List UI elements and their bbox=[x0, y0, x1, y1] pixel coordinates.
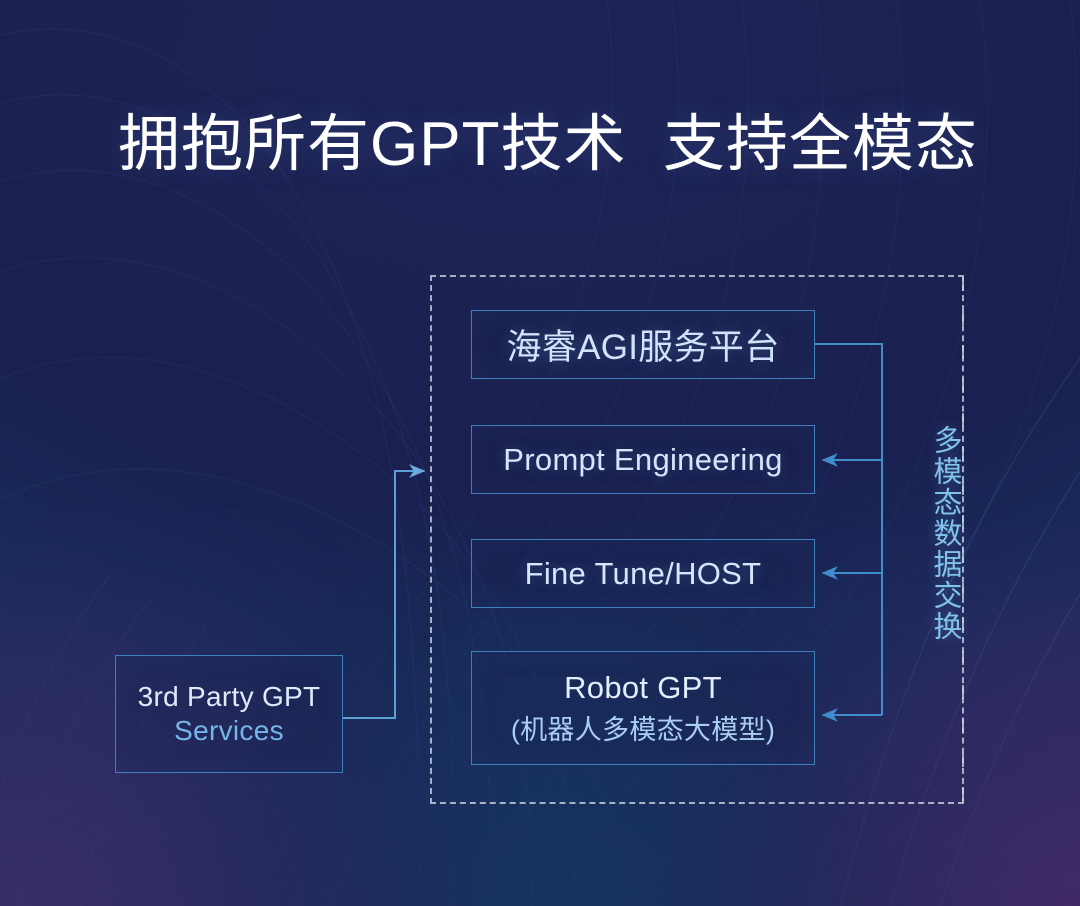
node-label-line1: 3rd Party GPT bbox=[138, 681, 321, 713]
node-label-line1: Prompt Engineering bbox=[503, 442, 782, 478]
side-label-multimodal-data-exchange: 多模态数据交换 bbox=[911, 425, 959, 642]
node-robot-gpt[interactable]: Robot GPT (机器人多模态大模型) bbox=[471, 651, 815, 765]
node-agi-platform[interactable]: 海睿AGI服务平台 bbox=[471, 310, 815, 379]
node-fine-tune-host[interactable]: Fine Tune/HOST bbox=[471, 539, 815, 608]
side-label-text: 多模态数据交换 bbox=[929, 425, 961, 642]
page-title: 拥抱所有GPT技术 支持全模态 bbox=[118, 112, 978, 178]
node-label-line2: (机器人多模态大模型) bbox=[511, 708, 775, 747]
node-prompt-engineering[interactable]: Prompt Engineering bbox=[471, 425, 815, 494]
node-label-line1: 海睿AGI服务平台 bbox=[507, 319, 780, 370]
node-label-line2: Services bbox=[174, 715, 284, 747]
slide-canvas: 拥抱所有GPT技术 支持全模态 bbox=[0, 0, 1080, 906]
node-label-line1: Fine Tune/HOST bbox=[525, 556, 762, 592]
node-label-line1: Robot GPT bbox=[564, 670, 722, 706]
node-third-party-gpt-services[interactable]: 3rd Party GPT Services bbox=[115, 655, 343, 773]
